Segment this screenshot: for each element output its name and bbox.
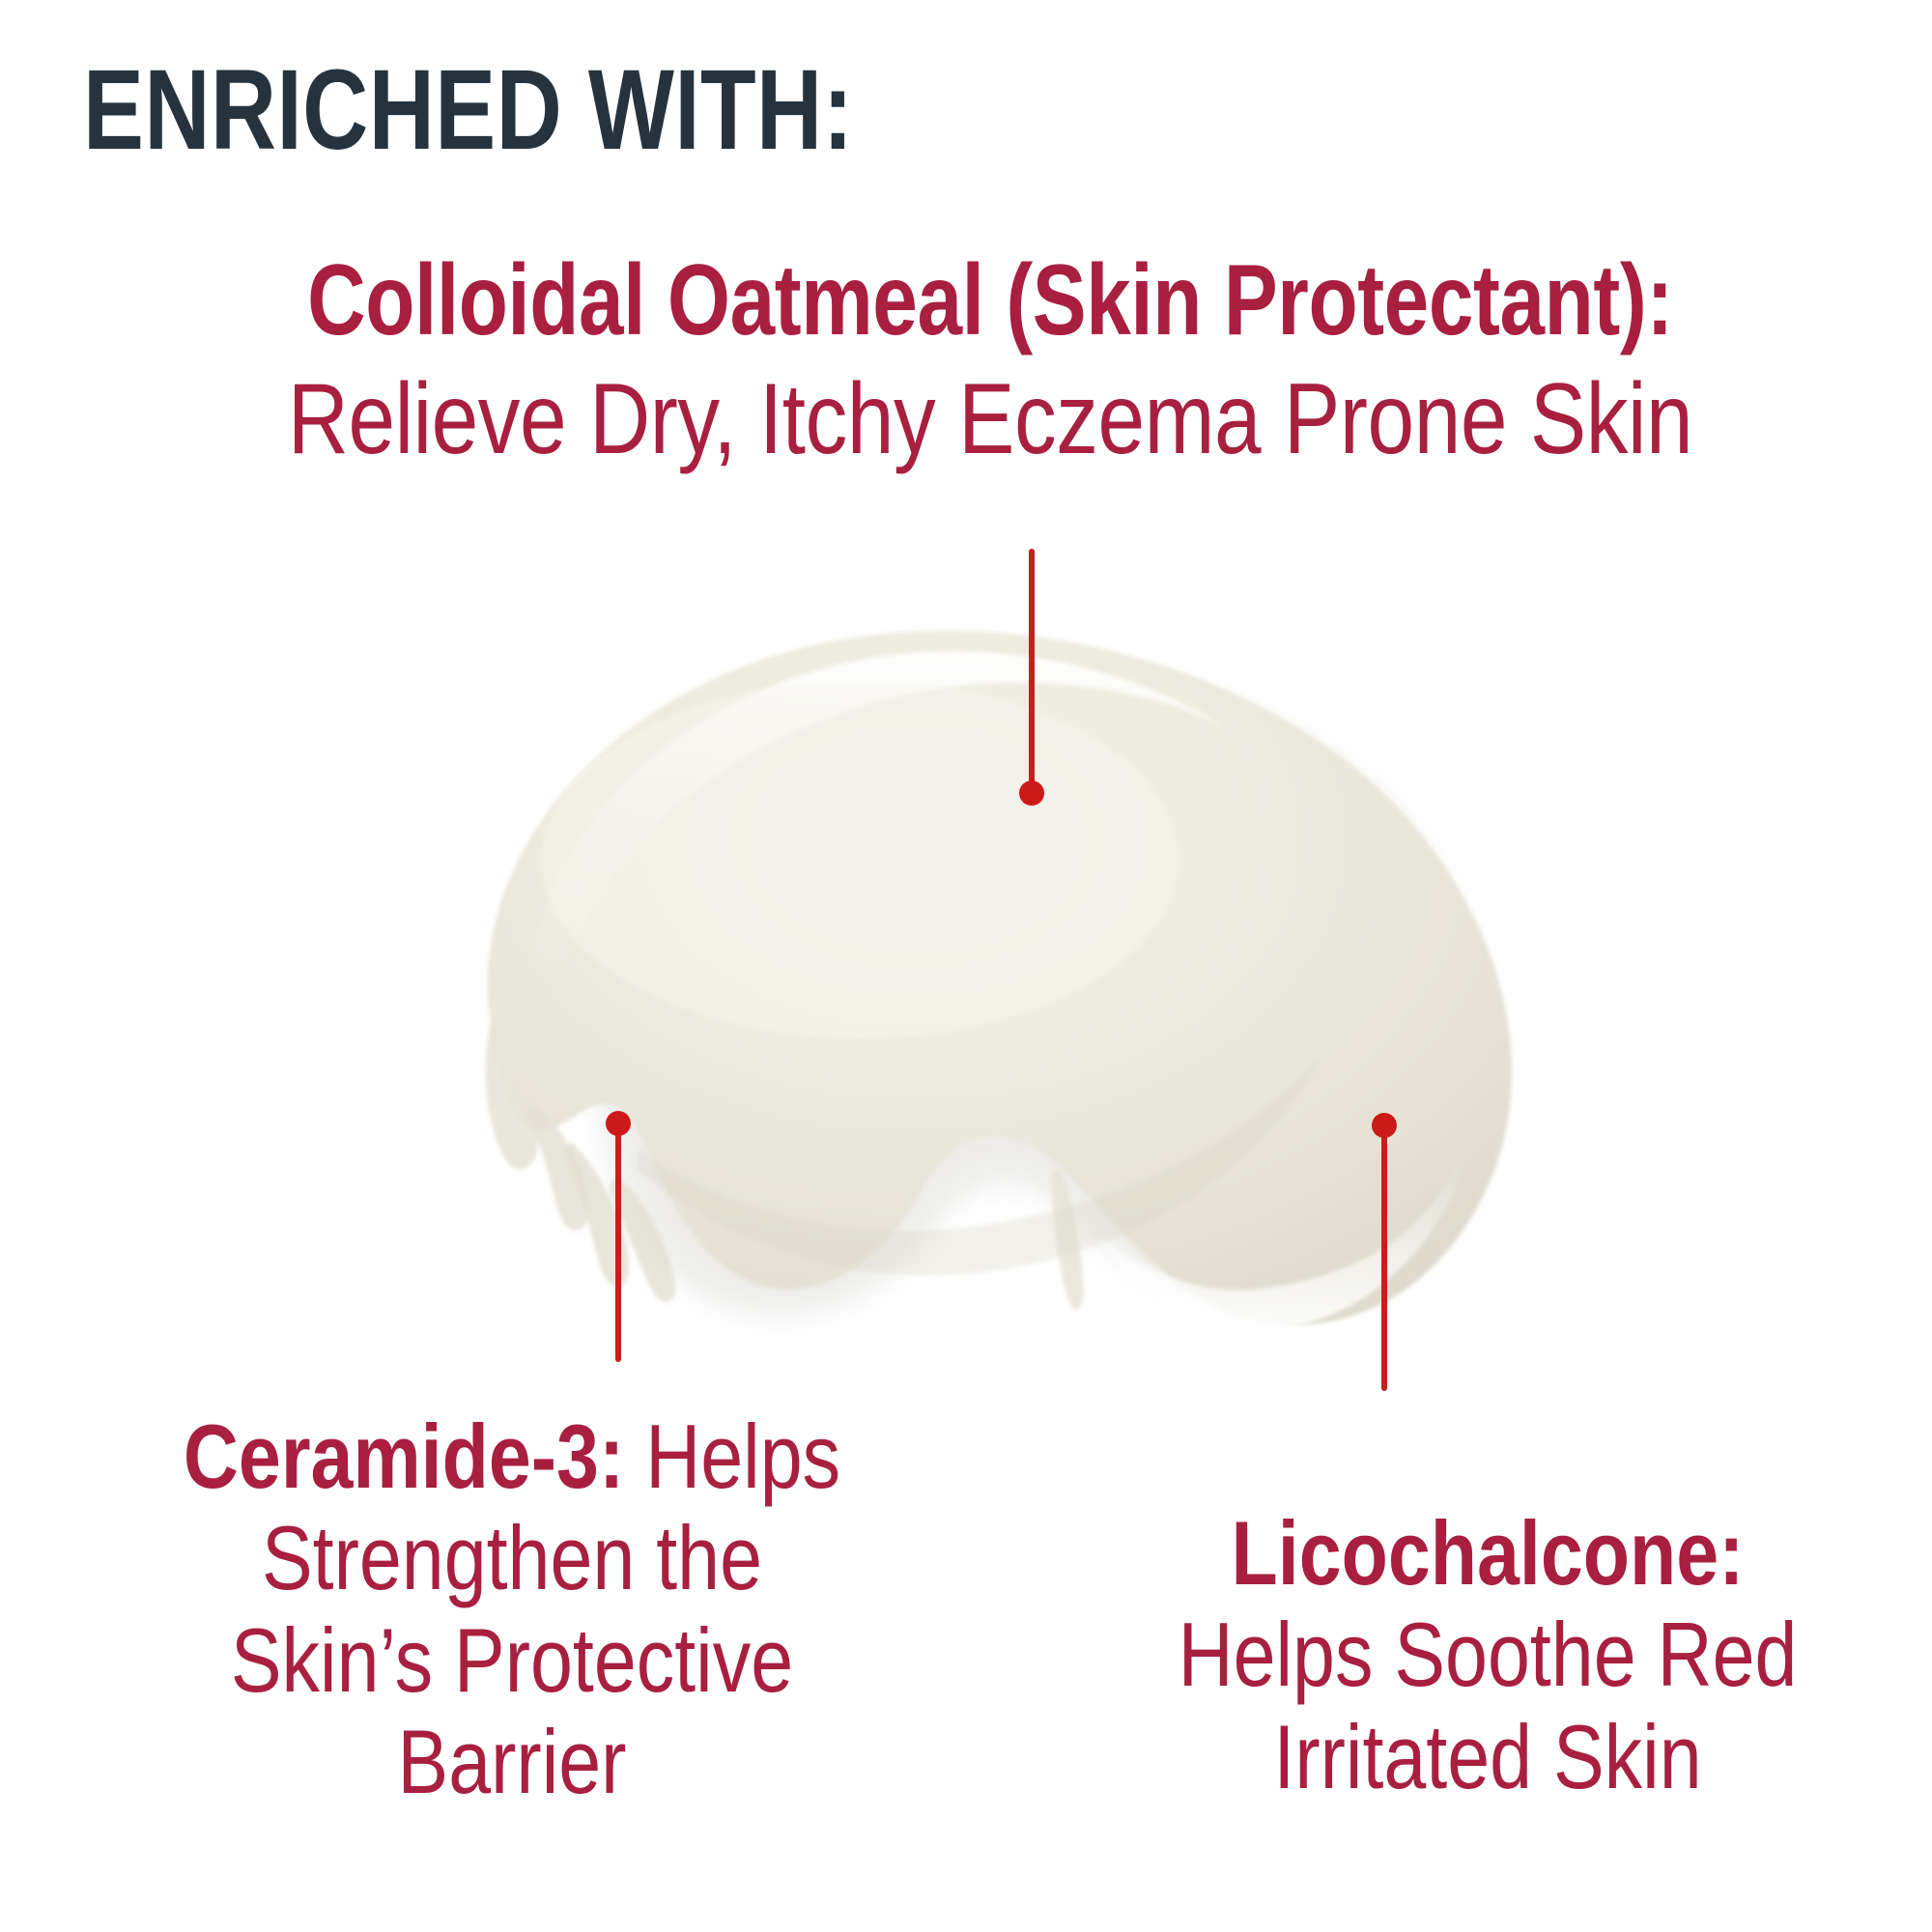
callout-leader-line-left [615,1128,621,1362]
callout-dot-left [606,1111,631,1136]
ingredient-description-line-2: Strengthen the [99,1507,926,1608]
callout-dot-right [1372,1113,1397,1138]
product-ingredient-infographic: ENRICHED WITH: Colloidal Oatmeal (Skin P… [0,0,1932,1932]
ingredient-callout-ceramide-3: Ceramide-3: Helps Strengthen the Skin’s … [19,1406,1005,1812]
ingredient-description-colloidal-oatmeal: Relieve Dry, Itchy Eczema Prone Skin [215,362,1765,477]
page-title: ENRICHED WITH: [83,52,853,168]
ingredient-name-licochalcone: Licochalcone: [1122,1502,1853,1604]
ingredient-name-colloidal-oatmeal: Colloidal Oatmeal (Skin Protectant): [247,243,1733,358]
callout-dot-top [1019,781,1044,806]
ingredient-description-line-3: Skin’s Protective [99,1609,926,1711]
ingredient-description-line-2: Irritated Skin [1122,1706,1853,1807]
ingredient-callout-colloidal-oatmeal: Colloidal Oatmeal (Skin Protectant): Rel… [68,243,1913,476]
ingredient-name-ceramide-3: Ceramide-3: [184,1406,624,1507]
ingredient-callout-licochalcone: Licochalcone: Helps Soothe Red Irritated… [1053,1502,1922,1807]
ingredient-description-line-4: Barrier [99,1711,926,1812]
callout-leader-line-top [1029,549,1035,798]
callout-leader-line-right [1381,1132,1387,1391]
ingredient-description-line-1: Helps Soothe Red [1122,1604,1853,1705]
ingredient-line: Ceramide-3: Helps [99,1406,926,1507]
ingredient-description-line-1: Helps [624,1406,840,1507]
